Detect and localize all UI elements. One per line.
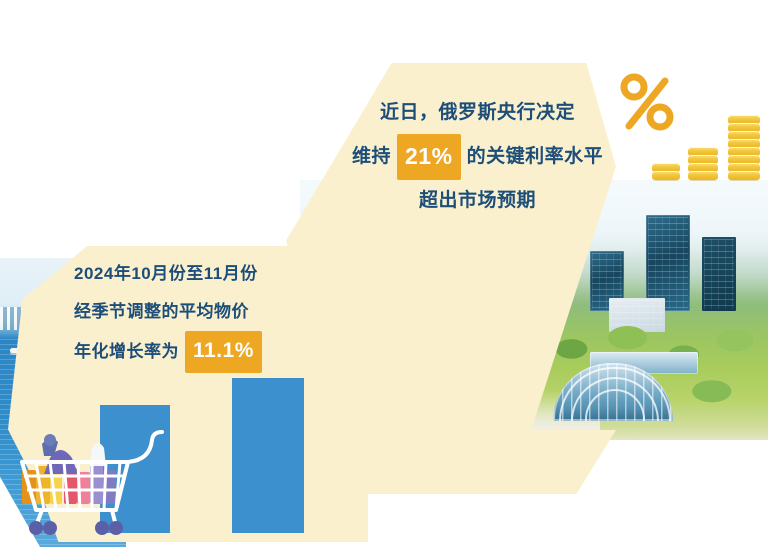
statement-line-1-text: 近日，俄罗斯央行决定: [380, 92, 575, 134]
statement-line-1: 近日，俄罗斯央行决定: [352, 92, 603, 134]
bar-column-november: [232, 378, 304, 533]
glass-dome-structure: [553, 363, 673, 421]
inflation-line-2-text: 经季节调整的平均物价: [74, 293, 249, 331]
statement-line-2-suffix: 的关键利率水平: [467, 136, 604, 178]
inflation-line-3: 年化增长率为 11.1%: [74, 331, 268, 373]
coin-stack-short: [652, 164, 680, 180]
inflation-rate-value: 11.1%: [185, 331, 262, 373]
coin-stack-tall: [728, 116, 760, 180]
coin-stack-medium: [688, 148, 718, 180]
statement-line-3-text: 超出市场预期: [419, 180, 536, 222]
coin-stacks-icon: [652, 88, 764, 180]
statement-line-2-prefix: 维持: [352, 136, 391, 178]
photo-mask-bottom-right: [600, 440, 768, 547]
shopping-cart-icon: [6, 418, 176, 538]
statement-line-3: 超出市场预期: [352, 180, 603, 222]
window-grid: [704, 239, 734, 309]
inflation-statement: 2024年10月份至11月份 经季节调整的平均物价 年化增长率为 11.1%: [74, 255, 268, 373]
cart-wheels: [29, 521, 123, 535]
inflation-line-1-text: 2024年10月份至11月份: [74, 255, 258, 293]
key-rate-value: 21%: [397, 134, 461, 180]
statement-line-2: 维持 21% 的关键利率水平: [352, 134, 603, 180]
infographic-canvas: 近日，俄罗斯央行决定 维持 21% 的关键利率水平 超出市场预期: [0, 0, 768, 547]
russia-rate-statement: 近日，俄罗斯央行决定 维持 21% 的关键利率水平 超出市场预期: [352, 92, 603, 222]
building-tower-tall: [646, 215, 690, 311]
window-grid: [648, 217, 688, 309]
inflation-line-2: 经季节调整的平均物价: [74, 293, 268, 331]
inflation-line-1: 2024年10月份至11月份: [74, 255, 268, 293]
inflation-line-3-prefix: 年化增长率为: [74, 333, 179, 371]
